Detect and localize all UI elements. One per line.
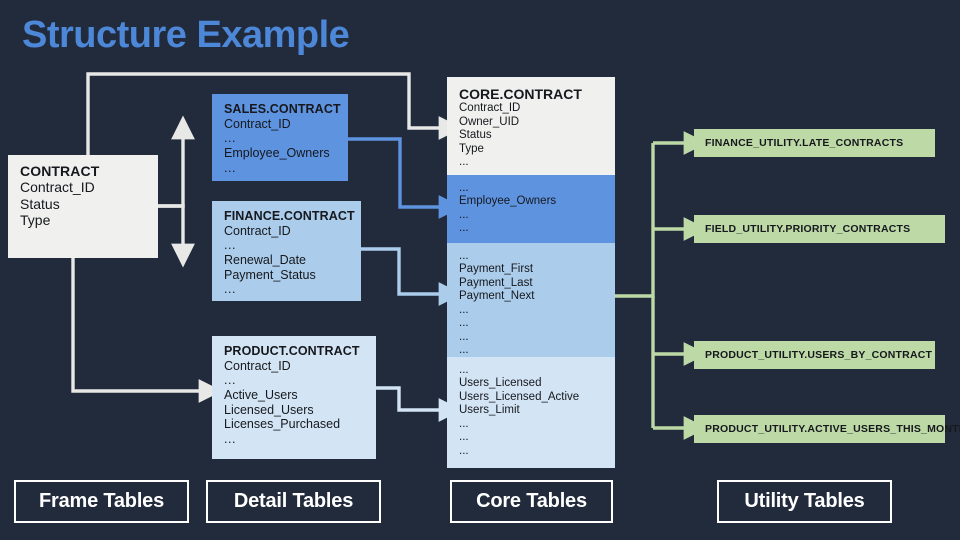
legend-label: Detail Tables — [234, 490, 353, 513]
table-field-ellipsis: ... — [459, 431, 615, 444]
table-field: Contract_ID — [224, 359, 366, 374]
legend-utility-tables[interactable]: Utility Tables — [717, 480, 892, 523]
wire-contract-to-finance — [158, 206, 183, 245]
table-field-ellipsis: ... — [459, 250, 615, 263]
table-field: Type — [459, 143, 615, 156]
utility-table-field-priority-contracts[interactable]: FIELD_UTILITY.PRIORITY_CONTRACTS — [694, 215, 945, 243]
legend-frame-tables[interactable]: Frame Tables — [14, 480, 189, 523]
wire-contract-to-product — [73, 258, 200, 391]
utility-table-finance-late-contracts[interactable]: FINANCE_UTILITY.LATE_CONTRACTS — [694, 129, 935, 157]
table-field-ellipsis: ... — [459, 156, 615, 169]
table-field: Employee_Owners — [224, 146, 338, 161]
table-field: Contract_ID — [20, 179, 148, 195]
frame-table-contract[interactable]: CONTRACT Contract_ID Status Type — [8, 155, 158, 258]
table-title: SALES.CONTRACT — [224, 102, 338, 117]
core-table-core-contract[interactable]: CORE.CONTRACT Contract_ID Owner_UID Stat… — [447, 77, 615, 468]
wire-finance-to-core — [361, 249, 440, 294]
table-field: Users_Limit — [459, 404, 615, 417]
table-title: FIELD_UTILITY.PRIORITY_CONTRACTS — [705, 223, 910, 235]
table-field-ellipsis: ... — [459, 209, 615, 222]
core-band-product: ... Users_Licensed Users_Licensed_Active… — [447, 357, 615, 468]
table-field: Licensed_Users — [224, 403, 366, 418]
legend-label: Core Tables — [476, 490, 587, 513]
core-band-identity: CORE.CONTRACT Contract_ID Owner_UID Stat… — [447, 77, 615, 175]
table-field-ellipsis: ... — [224, 238, 351, 253]
table-title: PRODUCT.CONTRACT — [224, 344, 366, 359]
table-field-ellipsis: ... — [459, 344, 615, 357]
table-field: Owner_UID — [459, 116, 615, 129]
wire-product-to-core — [376, 388, 440, 410]
table-field-ellipsis: ... — [224, 161, 338, 176]
table-field: Active_Users — [224, 388, 366, 403]
core-band-finance: ... Payment_First Payment_Last Payment_N… — [447, 243, 615, 357]
utility-table-product-active-users-this-month[interactable]: PRODUCT_UTILITY.ACTIVE_USERS_THIS_MONTH — [694, 415, 945, 443]
detail-table-finance-contract[interactable]: FINANCE.CONTRACT Contract_ID ... Renewal… — [212, 201, 361, 301]
table-field-ellipsis: ... — [459, 331, 615, 344]
detail-table-sales-contract[interactable]: SALES.CONTRACT Contract_ID ... Employee_… — [212, 94, 348, 181]
legend-detail-tables[interactable]: Detail Tables — [206, 480, 381, 523]
table-field: Status — [459, 129, 615, 142]
table-field: Type — [20, 212, 148, 228]
page-title: Structure Example — [22, 14, 349, 57]
table-field-ellipsis: ... — [224, 373, 366, 388]
table-field-ellipsis: ... — [459, 418, 615, 431]
table-title: PRODUCT_UTILITY.ACTIVE_USERS_THIS_MONTH — [705, 423, 960, 435]
table-title: CORE.CONTRACT — [459, 86, 615, 102]
wire-core-to-utility-trunk — [615, 143, 653, 296]
table-field: Users_Licensed_Active — [459, 391, 615, 404]
table-field: Status — [20, 196, 148, 212]
table-field-ellipsis: ... — [224, 432, 366, 447]
table-field-ellipsis: ... — [224, 131, 338, 146]
legend-label: Utility Tables — [744, 490, 864, 513]
table-field: Users_Licensed — [459, 377, 615, 390]
table-field: Contract_ID — [224, 224, 351, 239]
table-field: Payment_First — [459, 263, 615, 276]
table-field: Contract_ID — [459, 102, 615, 115]
table-title: PRODUCT_UTILITY.USERS_BY_CONTRACT — [705, 349, 932, 361]
table-field-ellipsis: ... — [459, 317, 615, 330]
table-field: Contract_ID — [224, 117, 338, 132]
table-title: FINANCE.CONTRACT — [224, 209, 351, 224]
table-field: Licenses_Purchased — [224, 417, 366, 432]
table-field: Renewal_Date — [224, 253, 351, 268]
legend-core-tables[interactable]: Core Tables — [450, 480, 613, 523]
table-field-ellipsis: ... — [459, 364, 615, 377]
detail-table-product-contract[interactable]: PRODUCT.CONTRACT Contract_ID ... Active_… — [212, 336, 376, 459]
table-field: Payment_Last — [459, 277, 615, 290]
table-field: Payment_Next — [459, 290, 615, 303]
core-band-sales: ... Employee_Owners ... ... — [447, 175, 615, 243]
diagram-canvas: Structure Example — [0, 0, 960, 540]
table-title: FINANCE_UTILITY.LATE_CONTRACTS — [705, 137, 903, 149]
legend-label: Frame Tables — [39, 490, 164, 513]
table-title: CONTRACT — [20, 163, 148, 179]
wire-sales-to-core — [348, 139, 440, 207]
table-field-ellipsis: ... — [459, 182, 615, 195]
table-field-ellipsis: ... — [459, 445, 615, 458]
table-field-ellipsis: ... — [459, 304, 615, 317]
table-field: Employee_Owners — [459, 195, 615, 208]
utility-table-product-users-by-contract[interactable]: PRODUCT_UTILITY.USERS_BY_CONTRACT — [694, 341, 935, 369]
table-field: Payment_Status — [224, 268, 351, 283]
table-field-ellipsis: ... — [459, 222, 615, 235]
table-field-ellipsis: ... — [224, 282, 351, 297]
wire-contract-to-sales — [158, 138, 183, 206]
